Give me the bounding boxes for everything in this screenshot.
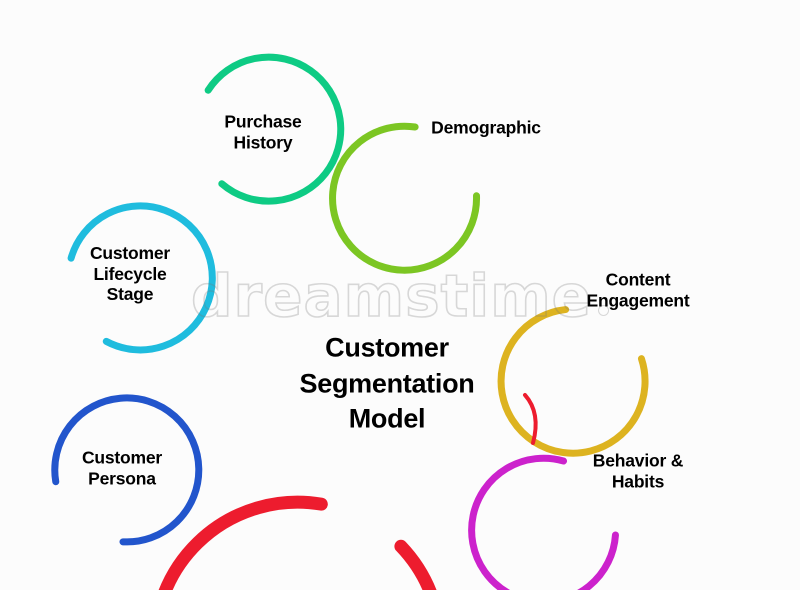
ring-content-engagement (472, 290, 667, 483)
diagram-canvas: dreamstime Purchase History Demographic … (0, 0, 800, 590)
ring-customer-lifecycle-stage (54, 181, 238, 370)
ring-behavior-habits (445, 438, 631, 590)
ring-center (106, 395, 535, 590)
ring-customer-persona (34, 369, 228, 561)
ring-purchase-history (205, 48, 350, 208)
ring-demographic (303, 106, 494, 300)
ring-graphics (0, 0, 800, 590)
